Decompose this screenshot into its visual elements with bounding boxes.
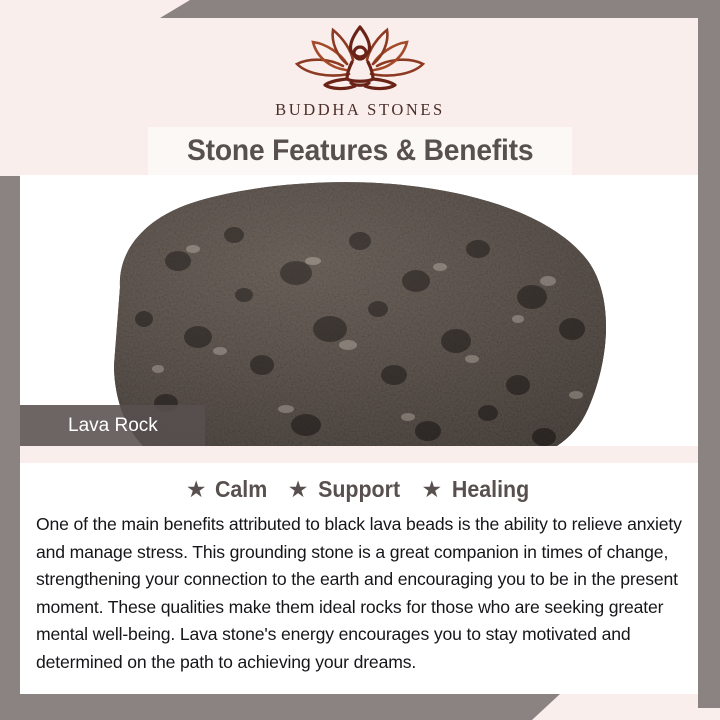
stone-photo: Lava Rock xyxy=(20,175,698,446)
lotus-meditation-icon xyxy=(289,22,431,94)
frame-band-bottom xyxy=(0,694,560,720)
description-paragraph: One of the main benefits attributed to b… xyxy=(32,511,686,676)
frame-band-left xyxy=(0,176,20,720)
benefit-item: ★ Healing xyxy=(421,476,532,503)
benefit-label: Healing xyxy=(452,476,529,503)
star-icon: ★ xyxy=(421,478,442,501)
brand-wordmark: BUDDHA STONES xyxy=(275,100,445,120)
benefit-label: Calm xyxy=(215,476,267,503)
benefits-row: ★ Calm ★ Support ★ Healing xyxy=(32,471,686,507)
page-title: Stone Features & Benefits xyxy=(187,134,533,168)
stone-benefits-poster: BUDDHA STONES Stone Features & Benefits xyxy=(0,0,720,720)
benefit-item: ★ Support xyxy=(288,476,404,503)
benefit-item: ★ Calm xyxy=(186,476,270,503)
star-icon: ★ xyxy=(186,478,207,501)
brand-header: BUDDHA STONES xyxy=(0,0,720,130)
title-banner: Stone Features & Benefits xyxy=(148,127,572,175)
benefits-content: ★ Calm ★ Support ★ Healing One of the ma… xyxy=(20,463,698,694)
benefit-label: Support xyxy=(318,476,400,503)
photo-caption-band: Lava Rock xyxy=(20,405,205,446)
photo-caption-label: Lava Rock xyxy=(68,415,158,437)
separator-strip xyxy=(20,446,698,463)
star-icon: ★ xyxy=(288,478,309,501)
